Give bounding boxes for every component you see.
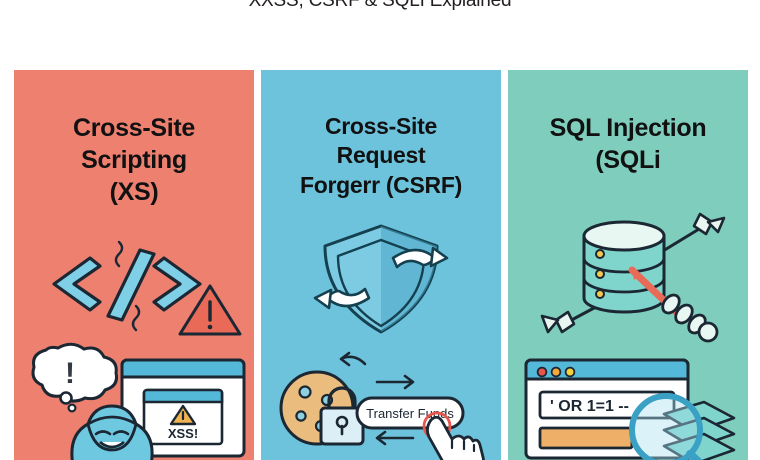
- panel-csrf-heading-line-1: Cross-Site: [267, 112, 495, 141]
- code-brackets-icon: [54, 250, 200, 320]
- transfer-funds-button-icon[interactable]: Transfer Funds: [357, 398, 463, 428]
- panel-csrf-heading-line-3: Forgerr (CSRF): [267, 171, 495, 200]
- panel-csrf-art-bottom: Transfer Funds: [261, 350, 501, 460]
- panel-csrf-art-top: [261, 218, 501, 340]
- alert-dialog-label: XSS!: [168, 426, 198, 441]
- alert-dialog-icon[interactable]: XSS!: [144, 390, 222, 444]
- sql-payload-value: ' OR 1=1 --: [550, 398, 629, 415]
- database-cylinder-icon: [584, 222, 664, 312]
- panel-csrf[interactable]: Cross-Site Request Forgerr (CSRF): [261, 70, 501, 460]
- arrow-left-lower-icon: [377, 432, 413, 444]
- arrow-left-icon: [341, 353, 365, 365]
- panel-sqli-art-bottom: ' OR 1=1 --: [508, 348, 748, 460]
- panel-xss[interactable]: Cross-Site Scripting (XS): [14, 70, 254, 460]
- panel-sqli-heading-line-2: (SQLi: [514, 144, 742, 176]
- panel-sqli[interactable]: SQL Injection (SQLi: [508, 70, 748, 460]
- panel-csrf-heading: Cross-Site Request Forgerr (CSRF): [267, 112, 495, 200]
- arrow-right-icon: [377, 376, 413, 388]
- panel-csrf-heading-line-2: Request: [267, 141, 495, 170]
- panel-xss-art-top: [14, 228, 254, 340]
- panel-xss-heading-line-2: Scripting: [20, 144, 248, 176]
- thought-bubble-label: !: [65, 357, 75, 390]
- poster-title-bar: XXSS, CSRF & SQLI Explained: [0, 0, 760, 20]
- shield-icon: [325, 226, 437, 332]
- panels-row: Cross-Site Scripting (XS): [14, 70, 748, 460]
- submit-button-icon[interactable]: [540, 428, 632, 448]
- window-traffic-lights[interactable]: [538, 368, 575, 377]
- panel-xss-heading-line-1: Cross-Site: [20, 112, 248, 144]
- thought-bubble-icon: !: [33, 344, 117, 411]
- panel-xss-art-bottom: XSS! !: [14, 342, 254, 460]
- chain-link-icon: [659, 292, 717, 341]
- panel-sqli-art-top: [508, 208, 748, 336]
- infographic-poster: XXSS, CSRF & SQLI Explained Cross-Site S…: [0, 0, 760, 460]
- page-title: XXSS, CSRF & SQLI Explained: [0, 0, 760, 16]
- panel-xss-heading: Cross-Site Scripting (XS): [20, 112, 248, 208]
- panel-sqli-heading-line-1: SQL Injection: [514, 112, 742, 144]
- panel-xss-heading-line-3: (XS): [20, 176, 248, 208]
- panel-sqli-heading: SQL Injection (SQLi: [514, 112, 742, 176]
